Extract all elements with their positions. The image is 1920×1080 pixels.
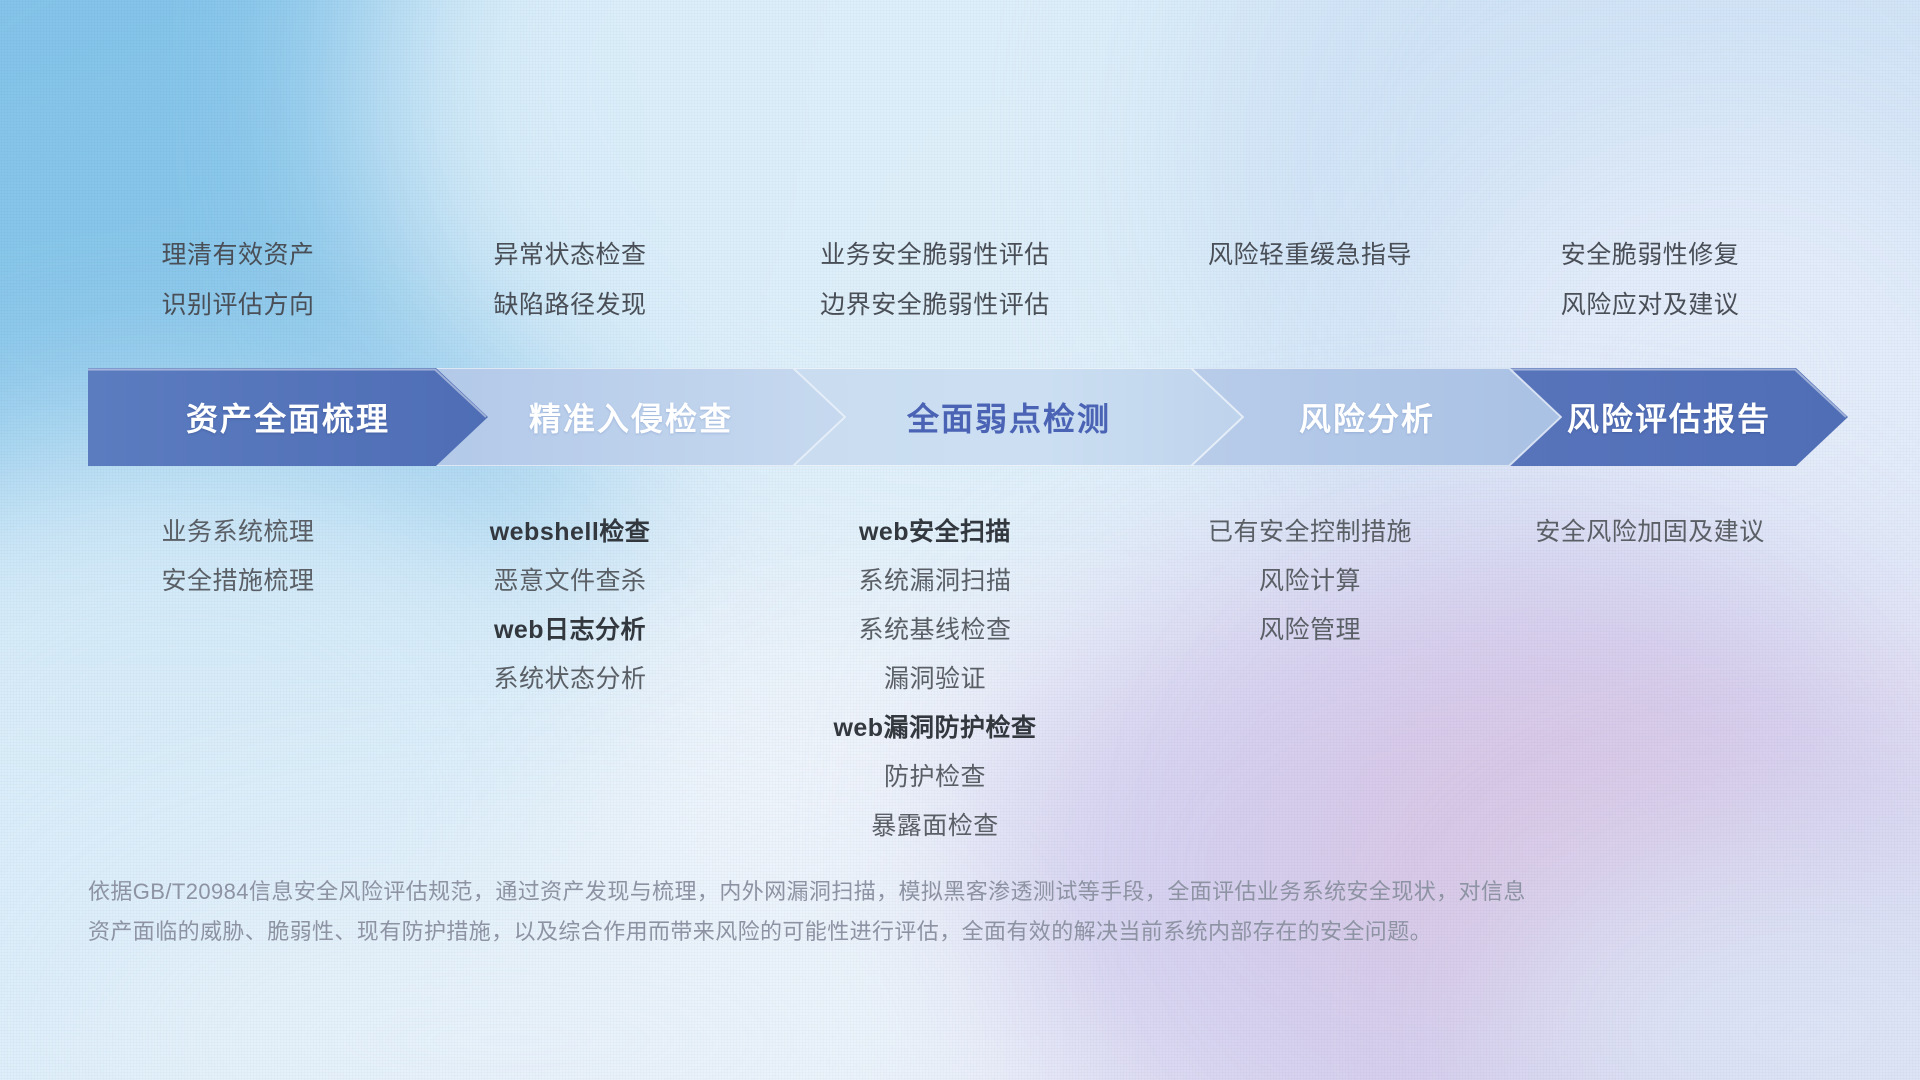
stage-label-risk-analysis: 风险分析 <box>1299 394 1435 440</box>
list-item: 风险管理 <box>1100 606 1520 655</box>
column-top-2-line-0: 业务安全脆弱性评估 <box>725 230 1145 280</box>
column-top-1-line-0: 异常状态检查 <box>360 230 780 280</box>
list-item: 风险计算 <box>1100 557 1520 606</box>
diagram-content: 理清有效资产 识别评估方向 异常状态检查 缺陷路径发现 业务安全脆弱性评估 边界… <box>0 0 1920 1080</box>
column-top-4-line-0: 安全脆弱性修复 <box>1440 230 1860 280</box>
column-top-4: 安全脆弱性修复 风险应对及建议 <box>1440 230 1860 330</box>
column-bottom-2: web安全扫描 系统漏洞扫描 系统基线检查 漏洞验证 web漏洞防护检查 防护检… <box>725 508 1145 851</box>
column-top-4-line-1: 风险应对及建议 <box>1440 280 1860 330</box>
stage-chevron-asset-inventory[interactable]: 资产全面梳理 <box>88 368 488 466</box>
list-item: 系统状态分析 <box>360 655 780 704</box>
footer-line-2: 资产面临的威胁、脆弱性、现有防护措施，以及综合作用而带来风险的可能性进行评估，全… <box>88 912 1618 952</box>
footer-description: 依据GB/T20984信息安全风险评估规范，通过资产发现与梳理，内外网漏洞扫描，… <box>88 872 1618 952</box>
column-top-1: 异常状态检查 缺陷路径发现 <box>360 230 780 330</box>
list-item: 漏洞验证 <box>725 655 1145 704</box>
stage-label-weakness-detection: 全面弱点检测 <box>907 394 1111 440</box>
list-item: 恶意文件查杀 <box>360 557 780 606</box>
list-item: 系统漏洞扫描 <box>725 557 1145 606</box>
stage-label-risk-report: 风险评估报告 <box>1567 394 1771 440</box>
list-item: webshell检查 <box>360 508 780 557</box>
column-bottom-4: 安全风险加固及建议 <box>1440 508 1860 557</box>
column-bottom-1: webshell检查 恶意文件查杀 web日志分析 系统状态分析 <box>360 508 780 704</box>
column-top-2: 业务安全脆弱性评估 边界安全脆弱性评估 <box>725 230 1145 330</box>
list-item: 系统基线检查 <box>725 606 1145 655</box>
list-item: web漏洞防护检查 <box>725 704 1145 753</box>
column-top-2-line-1: 边界安全脆弱性评估 <box>725 280 1145 330</box>
column-top-1-line-1: 缺陷路径发现 <box>360 280 780 330</box>
list-item: web日志分析 <box>360 606 780 655</box>
stage-label-intrusion-check: 精准入侵检查 <box>529 394 733 440</box>
list-item: 安全风险加固及建议 <box>1440 508 1860 557</box>
footer-line-1: 依据GB/T20984信息安全风险评估规范，通过资产发现与梳理，内外网漏洞扫描，… <box>88 872 1618 912</box>
stage-label-asset-inventory: 资产全面梳理 <box>186 394 390 440</box>
process-stage-bar: 资产全面梳理 精准入侵检查 <box>88 368 1848 466</box>
list-item: web安全扫描 <box>725 508 1145 557</box>
list-item: 防护检查 <box>725 753 1145 802</box>
list-item: 暴露面检查 <box>725 802 1145 851</box>
